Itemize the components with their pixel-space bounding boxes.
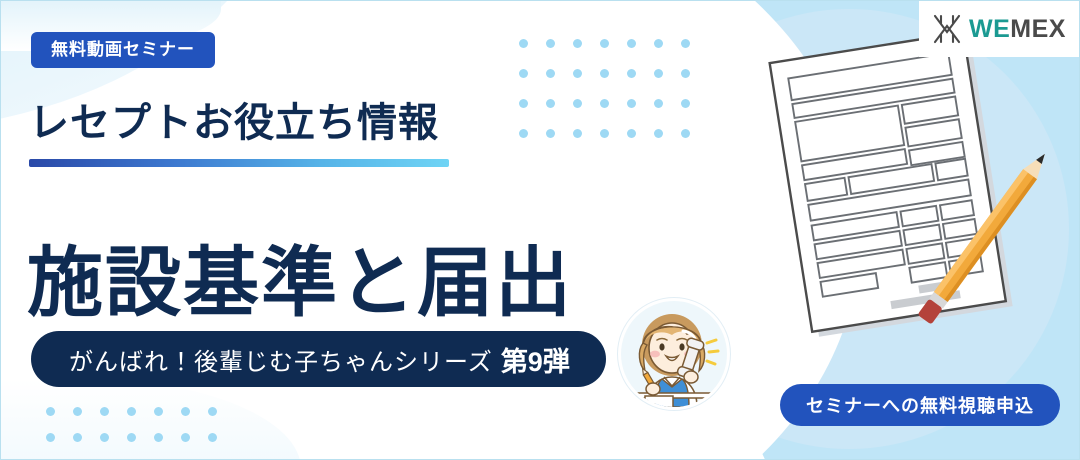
wemex-logo: WEMEX [919, 1, 1079, 57]
wemex-x-mark-icon [932, 13, 962, 45]
page-title: 施設基準と届出 [27, 242, 573, 326]
apply-seminar-button[interactable]: セミナーへの無料視聴申込 [780, 384, 1060, 426]
free-seminar-badge: 無料動画セミナー [31, 32, 215, 68]
seminar-banner: 無料動画セミナー レセプトお役立ち情報 施設基準と届出 がんばれ！後輩じむ子ちゃ… [0, 0, 1080, 460]
banner-content: 無料動画セミナー レセプトお役立ち情報 施設基準と届出 がんばれ！後輩じむ子ちゃ… [1, 1, 1079, 459]
logo-text-mex: MEX [1010, 15, 1066, 43]
logo-text-we: WE [969, 15, 1010, 43]
subtitle-underline [29, 159, 449, 167]
wemex-logo-text: WEMEX [969, 17, 1066, 42]
series-label: がんばれ！後輩じむ子ちゃんシリーズ [69, 342, 493, 377]
series-number: 第9弾 [501, 340, 570, 379]
banner-subtitle: レセプトお役立ち情報 [29, 101, 439, 145]
series-badge: がんばれ！後輩じむ子ちゃんシリーズ 第9弾 [31, 331, 606, 387]
